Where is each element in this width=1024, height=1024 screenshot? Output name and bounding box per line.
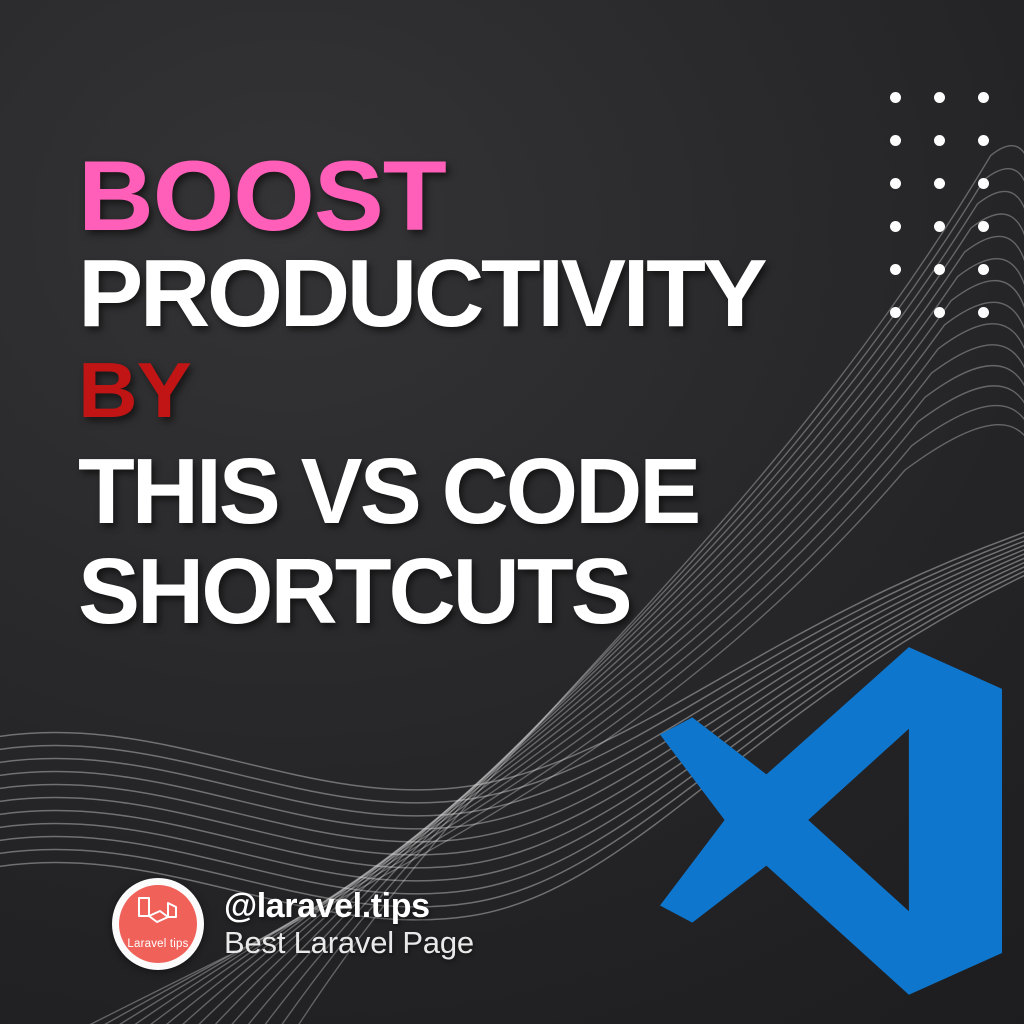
vscode-logo: [636, 630, 1024, 1010]
brand-footer: Laravel tips @laravel.tips Best Laravel …: [112, 878, 474, 970]
grid-dot: [978, 178, 989, 189]
grid-dot: [978, 221, 989, 232]
grid-dot: [978, 264, 989, 275]
headline-line-by: BY: [78, 351, 958, 429]
brand-tagline: Best Laravel Page: [224, 925, 474, 962]
headline-line-this-vs-code: THIS VS CODE: [78, 445, 908, 538]
grid-dot: [978, 92, 989, 103]
headline-line-productivity: PRODUCTIVITY: [78, 247, 925, 341]
headline-block: BOOST PRODUCTIVITY BY THIS VS CODE SHORT…: [78, 150, 908, 639]
headline-line-boost: BOOST: [78, 150, 958, 241]
grid-dot: [890, 135, 901, 146]
grid-dot: [934, 264, 945, 275]
grid-dot: [934, 92, 945, 103]
grid-dot: [890, 92, 901, 103]
avatar: Laravel tips: [112, 878, 204, 970]
brand-text-block: @laravel.tips Best Laravel Page: [224, 887, 474, 962]
grid-dot: [934, 307, 945, 318]
headline-line-shortcuts: SHORTCUTS: [78, 544, 908, 639]
brand-handle: @laravel.tips: [224, 887, 474, 925]
avatar-label: Laravel tips: [119, 938, 197, 950]
grid-dot: [934, 135, 945, 146]
avatar-circle: Laravel tips: [119, 885, 197, 963]
poster-canvas: BOOST PRODUCTIVITY BY THIS VS CODE SHORT…: [0, 0, 1024, 1024]
grid-dot: [978, 135, 989, 146]
laravel-mark-icon: [135, 896, 181, 930]
grid-dot: [978, 307, 989, 318]
vscode-logo-svg: [636, 630, 1024, 1010]
